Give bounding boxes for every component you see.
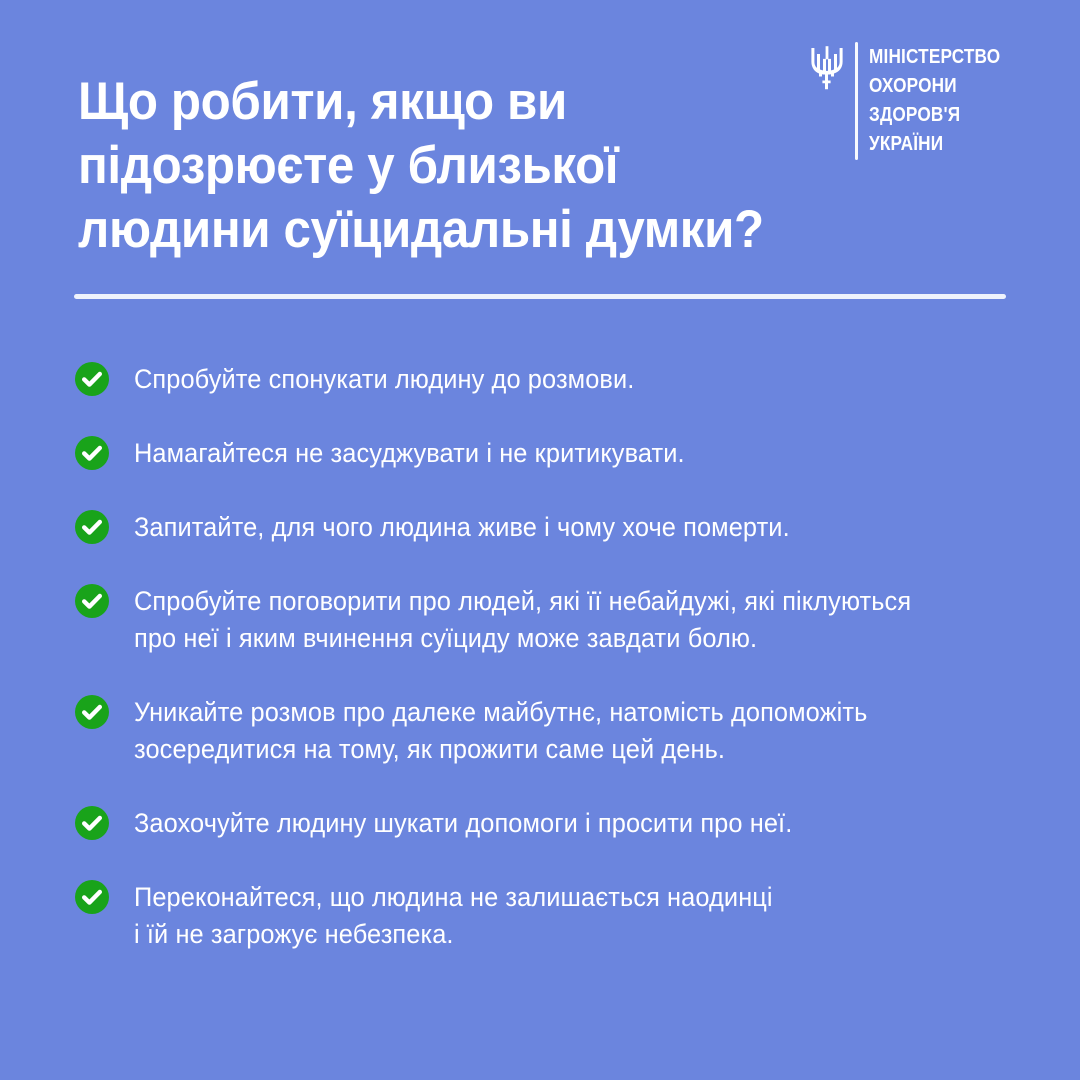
ministry-logo: МІНІСТЕРСТВО ОХОРОНИ ЗДОРОВ'Я УКРАЇНИ <box>810 42 1022 160</box>
poster-header: Що робити, якщо ви підозрюєте у близької… <box>0 0 1080 300</box>
list-item-text: Переконайтеся, що людина не залишається … <box>134 878 773 953</box>
list-item: Переконайтеся, що людина не залишається … <box>74 878 1014 953</box>
header-divider <box>74 294 1006 299</box>
list-item-text: Спробуйте спонукати людину до розмови. <box>134 360 634 398</box>
list-item: Уникайте розмов про далеке майбутнє, нат… <box>74 693 1014 768</box>
ukraine-trident-icon <box>810 45 844 91</box>
poster-root: Що робити, якщо ви підозрюєте у близької… <box>0 0 1080 1080</box>
list-item-text: Уникайте розмов про далеке майбутнє, нат… <box>134 693 867 768</box>
check-circle-icon <box>74 694 110 730</box>
list-item: Намагайтеся не засуджувати і не критикув… <box>74 434 1014 472</box>
ministry-name: МІНІСТЕРСТВО ОХОРОНИ ЗДОРОВ'Я УКРАЇНИ <box>869 42 1000 159</box>
advice-list: Спробуйте спонукати людину до розмови. Н… <box>74 360 1014 953</box>
check-circle-icon <box>74 435 110 471</box>
list-item: Спробуйте спонукати людину до розмови. <box>74 360 1014 398</box>
check-circle-icon <box>74 879 110 915</box>
list-item-text: Спробуйте поговорити про людей, які її н… <box>134 582 911 657</box>
list-item: Спробуйте поговорити про людей, які її н… <box>74 582 1014 657</box>
logo-divider-rule <box>855 42 858 160</box>
check-circle-icon <box>74 509 110 545</box>
check-circle-icon <box>74 805 110 841</box>
list-item-text: Заохочуйте людину шукати допомоги і прос… <box>134 804 792 842</box>
list-item-text: Намагайтеся не засуджувати і не критикув… <box>134 434 685 472</box>
list-item-text: Запитайте, для чого людина живе і чому х… <box>134 508 790 546</box>
page-title: Що робити, якщо ви підозрюєте у близької… <box>78 70 794 262</box>
list-item: Запитайте, для чого людина живе і чому х… <box>74 508 1014 546</box>
list-item: Заохочуйте людину шукати допомоги і прос… <box>74 804 1014 842</box>
check-circle-icon <box>74 361 110 397</box>
check-circle-icon <box>74 583 110 619</box>
